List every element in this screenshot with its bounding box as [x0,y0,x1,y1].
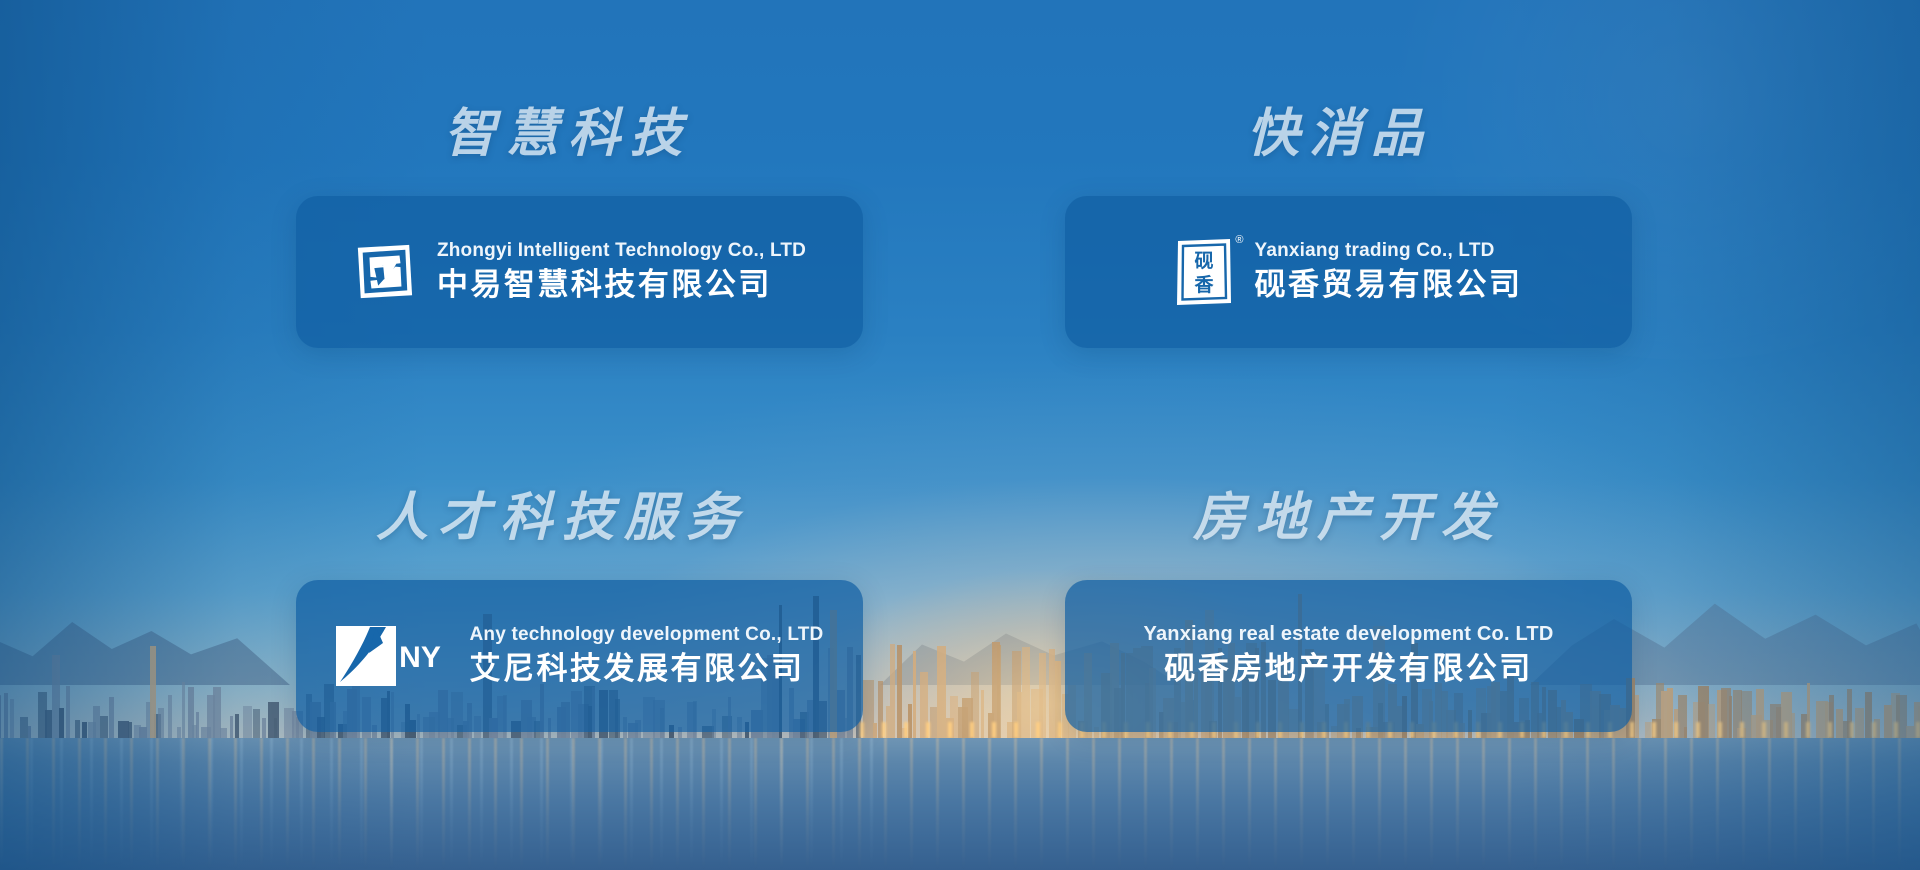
company-text-any: Any technology development Co., LTD 艾尼科技… [470,623,824,689]
sector-title-fmcg: 快消品 [1065,108,1632,160]
sector-block-talent-services: 人才科技服务 NY Any technology development Co.… [296,492,863,732]
sector-title-real-estate: 房地产开发 [1065,492,1632,544]
company-card-yanxiang-trading[interactable]: 砚 香 ® Yanxiang trading Co., LTD 砚香贸易有限公司 [1065,196,1632,348]
company-name-cn: 艾尼科技发展有限公司 [470,649,824,689]
company-name-cn: 砚香房地产开发有限公司 [1164,649,1533,689]
company-name-cn: 中易智慧科技有限公司 [437,265,806,305]
sector-block-smart-technology: 智慧科技 Zhongyi Intelligent Technology Co.,… [296,108,863,348]
any-ny-logo-icon: NY [336,625,448,687]
company-name-en: Any technology development Co., LTD [470,623,824,647]
company-card-zhongyi[interactable]: Zhongyi Intelligent Technology Co., LTD … [296,196,863,348]
company-name-en: Yanxiang real estate development Co. LTD [1144,622,1554,647]
sector-title-talent-services: 人才科技服务 [296,492,863,544]
company-text-yanxiang-real-estate: Yanxiang real estate development Co. LTD… [1144,622,1554,689]
sector-title-smart-technology: 智慧科技 [296,108,863,160]
company-name-cn: 砚香贸易有限公司 [1255,265,1523,305]
sector-grid: 智慧科技 Zhongyi Intelligent Technology Co.,… [0,0,1920,870]
company-name-en: Zhongyi Intelligent Technology Co., LTD [437,239,806,263]
company-card-yanxiang-real-estate[interactable]: Yanxiang real estate development Co. LTD… [1065,580,1632,732]
company-text-yanxiang-trading: Yanxiang trading Co., LTD 砚香贸易有限公司 [1255,239,1523,305]
seal-char-bottom: 香 [1193,274,1214,296]
zhongyi-z-logo-icon [353,241,415,303]
sector-block-real-estate: 房地产开发 Yanxiang real estate development C… [1065,492,1632,732]
hero-banner: 智慧科技 Zhongyi Intelligent Technology Co.,… [0,0,1920,870]
company-name-en: Yanxiang trading Co., LTD [1255,239,1523,263]
company-card-any[interactable]: NY Any technology development Co., LTD 艾… [296,580,863,732]
yanxiang-seal-logo-icon: 砚 香 ® [1175,237,1233,307]
sector-block-fmcg: 快消品 砚 香 ® Yanxiang trading Co., LTD 砚香贸易… [1065,108,1632,348]
seal-char-top: 砚 [1194,250,1213,272]
registered-mark: ® [1235,235,1243,246]
any-logo-text: NY [399,641,441,674]
company-text-zhongyi: Zhongyi Intelligent Technology Co., LTD … [437,239,806,305]
